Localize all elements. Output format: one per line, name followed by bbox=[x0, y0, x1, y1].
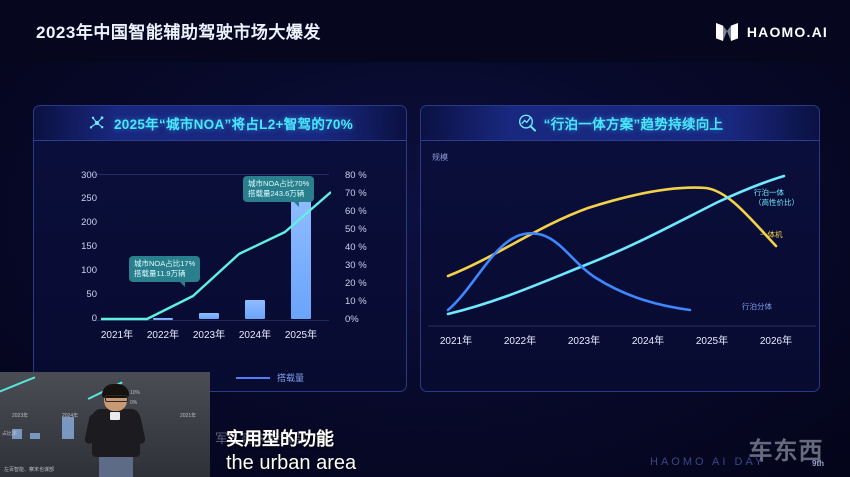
slide-stage: 2023年中国智能辅助驾驶市场大爆发 HAOMO.AI bbox=[0, 0, 850, 477]
pip-slide-line bbox=[0, 376, 35, 393]
left-y2tick: 60 % bbox=[345, 206, 385, 217]
left-y2tick: 40 % bbox=[345, 242, 385, 253]
callout-2023: 城市NOA占比17% 搭载量11.9万辆 bbox=[129, 256, 200, 282]
brand-name: HAOMO.AI bbox=[747, 24, 828, 40]
pip-slide-label: 2024年 bbox=[62, 412, 78, 419]
slide-header: 2023年中国智能辅助驾驶市场大爆发 HAOMO.AI bbox=[0, 0, 850, 62]
glasses-icon bbox=[105, 395, 128, 402]
left-chart: 300 250 200 150 100 50 0 80 % 70 % 60 % … bbox=[45, 166, 393, 352]
right-chart-y-label: 规模 bbox=[432, 152, 448, 163]
left-panel-title: 2025年“城市NOA”将占L2+智驾的70% bbox=[114, 113, 353, 133]
callout-line1: 城市NOA占比17% bbox=[134, 259, 195, 269]
annotation-yitiji: 一体机 bbox=[760, 230, 783, 240]
chedongxi-logo: 车东西 9th bbox=[730, 427, 842, 471]
callout-line2: 搭载量243.6万辆 bbox=[248, 189, 309, 199]
network-nodes-icon bbox=[87, 113, 107, 133]
pip-slide-label: 占比率 bbox=[2, 430, 17, 437]
haomo-m-mark-icon bbox=[715, 20, 739, 44]
edition-badge: 9th bbox=[812, 459, 824, 468]
left-y2tick: 80 % bbox=[345, 170, 385, 181]
right-xtick: 2021年 bbox=[428, 332, 484, 347]
left-y2tick: 20 % bbox=[345, 278, 385, 289]
callout-2025: 城市NOA占比70% 搭载量243.6万辆 bbox=[243, 176, 314, 202]
speaker-legs bbox=[99, 455, 133, 477]
pip-slide-bar bbox=[62, 417, 74, 439]
page-title: 2023年中国智能辅助驾驶市场大爆发 bbox=[36, 18, 321, 43]
speaker-figure bbox=[88, 386, 144, 477]
pip-slide-label: 左百智能、察末也谋部 bbox=[4, 466, 54, 473]
annotation-name: 行泊一体 bbox=[754, 188, 784, 197]
right-xtick: 2024年 bbox=[620, 332, 676, 347]
left-y2tick: 0% bbox=[345, 314, 385, 325]
callout-line1: 城市NOA占比70% bbox=[248, 179, 309, 189]
pip-slide-label: 2023年 bbox=[12, 412, 28, 419]
callout-line2: 搭载量11.9万辆 bbox=[134, 269, 195, 279]
brand-lockup: HAOMO.AI bbox=[715, 20, 828, 44]
right-xtick: 2025年 bbox=[684, 332, 740, 347]
right-panel-header: “行泊一体方案”趋势持续向上 bbox=[421, 106, 819, 141]
microphone-icon bbox=[110, 412, 120, 420]
left-chart-legend: 搭载量 bbox=[236, 371, 304, 384]
subtitle-chinese: 实用型的功能 bbox=[226, 425, 334, 451]
chart-magnifier-icon bbox=[517, 113, 537, 133]
pip-slide-label: 2021年 bbox=[180, 412, 196, 419]
pip-slide-bar bbox=[30, 433, 40, 439]
annotation-sub: （高性价比） bbox=[754, 198, 799, 207]
right-xtick: 2023年 bbox=[556, 332, 612, 347]
pip-video[interactable]: 2023年 2024年 2021年 10% 0% 左百智能、察末也谋部 占比率 bbox=[0, 372, 210, 477]
right-chart: 规模 行泊一体 （高性价比） 一体机 行泊分体 2021年 2022年 2023… bbox=[428, 150, 816, 350]
right-xtick: 2022年 bbox=[492, 332, 548, 347]
left-y2tick: 30 % bbox=[345, 260, 385, 271]
left-panel-header: 2025年“城市NOA”将占L2+智驾的70% bbox=[34, 106, 406, 141]
left-xtick: 2025年 bbox=[272, 326, 330, 341]
right-xtick: 2026年 bbox=[748, 332, 804, 347]
subtitle-english: the urban area bbox=[226, 452, 356, 475]
legend-label: 搭载量 bbox=[277, 371, 304, 384]
annotation-xingbo-fenti: 行泊分体 bbox=[742, 302, 772, 312]
left-y2tick: 70 % bbox=[345, 188, 385, 199]
right-panel-title: “行泊一体方案”趋势持续向上 bbox=[544, 113, 724, 133]
left-y2tick: 50 % bbox=[345, 224, 385, 235]
chedongxi-logo-text: 车东西 bbox=[730, 431, 842, 466]
legend-swatch-icon bbox=[236, 377, 270, 379]
annotation-xingbo-yiti: 行泊一体 （高性价比） bbox=[754, 188, 799, 208]
left-y2tick: 10 % bbox=[345, 296, 385, 307]
